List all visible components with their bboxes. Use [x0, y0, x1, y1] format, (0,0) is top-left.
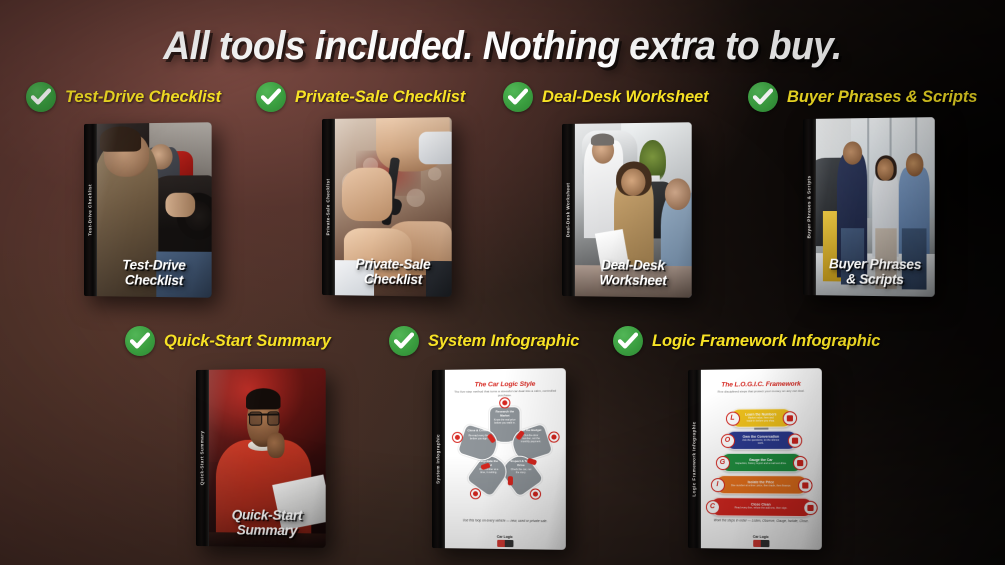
- book-spine-text: Test-Drive Checklist: [87, 184, 92, 236]
- page-title: All tools included. Nothing extra to buy…: [35, 24, 970, 69]
- check-circle-icon: [748, 82, 778, 112]
- checklist-item-quick-start: Quick-Start Summary: [125, 326, 331, 356]
- checklist-item-private-sale: Private-Sale Checklist: [256, 82, 465, 112]
- product-mockup-logic-framework-infographic: Logic Framework Infographic The L.O.G.I.…: [688, 370, 820, 548]
- book-spine: Deal-Desk Worksheet: [562, 124, 575, 296]
- check-circle-icon: [256, 82, 286, 112]
- checklist-label: Deal-Desk Worksheet: [542, 88, 709, 107]
- checklist-item-logic-framework: Logic Framework Infographic: [613, 326, 880, 356]
- checklist-label: Private-Sale Checklist: [295, 88, 465, 107]
- book-spine-text: Quick-Start Summary: [199, 431, 204, 486]
- checklist-label: Buyer Phrases & Scripts: [787, 88, 977, 107]
- checklist-item-test-drive: Test-Drive Checklist: [26, 82, 221, 112]
- cover-title: Deal-Desk Worksheet: [579, 259, 688, 289]
- book-spine: Quick-Start Summary: [196, 370, 209, 546]
- checklist-item-system-infographic: System Infographic: [389, 326, 579, 356]
- book-spine-text: Deal-Desk Worksheet: [565, 183, 570, 238]
- cover-title: Buyer Phrases & Scripts: [820, 258, 931, 288]
- checklist-label: System Infographic: [428, 332, 579, 351]
- book-cover: Private-Sale Checklist: [335, 117, 452, 297]
- promo-graphic: All tools included. Nothing extra to buy…: [0, 0, 1005, 565]
- product-mockup-quick-start-summary: Quick-Start Summary Quick-Start Summary: [196, 370, 324, 546]
- book-spine-text: System Infographic: [435, 434, 440, 484]
- checklist-item-deal-desk: Deal-Desk Worksheet: [503, 82, 709, 112]
- checklist-item-buyer-phrases: Buyer Phrases & Scripts: [748, 82, 977, 112]
- cover-title: Test-Drive Checklist: [101, 259, 208, 289]
- book-cover: Buyer Phrases & Scripts: [816, 117, 935, 297]
- product-mockup-deal-desk-worksheet: Deal-Desk Worksheet Deal-Desk Worksheet: [562, 124, 690, 296]
- book-cover: Deal-Desk Worksheet: [575, 122, 692, 298]
- book-cover: The Car Logic Style The five-step method…: [445, 368, 566, 550]
- book-spine: Test-Drive Checklist: [84, 124, 97, 296]
- checklist-label: Quick-Start Summary: [164, 332, 331, 351]
- book-cover: The L.O.G.I.C. Framework Five discipline…: [701, 368, 822, 550]
- checklist-label: Test-Drive Checklist: [65, 88, 221, 107]
- product-mockup-system-infographic: System Infographic The Car Logic Style T…: [432, 370, 564, 548]
- book-spine: Buyer Phrases & Scripts: [803, 119, 816, 295]
- product-mockup-test-drive-checklist: Test-Drive Checklist Test-Drive Checklis…: [84, 124, 210, 296]
- book-spine-text: Buyer Phrases & Scripts: [806, 176, 811, 239]
- product-mockup-buyer-phrases-scripts: Buyer Phrases & Scripts Buyer Phrases & …: [803, 119, 933, 295]
- check-circle-icon: [125, 326, 155, 356]
- book-spine-text: Logic Framework Infographic: [691, 421, 696, 496]
- book-spine: Logic Framework Infographic: [688, 370, 701, 548]
- cover-title: Quick-Start Summary: [213, 509, 322, 539]
- book-spine: Private-Sale Checklist: [322, 119, 335, 295]
- book-spine-text: Private-Sale Checklist: [325, 179, 330, 236]
- check-circle-icon: [613, 326, 643, 356]
- product-mockup-private-sale-checklist: Private-Sale Checklist: [322, 119, 450, 295]
- book-cover: Test-Drive Checklist: [97, 122, 212, 298]
- check-circle-icon: [26, 82, 56, 112]
- check-circle-icon: [389, 326, 419, 356]
- cover-title: Private-Sale Checklist: [339, 258, 448, 288]
- book-spine: System Infographic: [432, 370, 445, 548]
- check-circle-icon: [503, 82, 533, 112]
- checklist-label: Logic Framework Infographic: [652, 332, 880, 351]
- book-cover: Quick-Start Summary: [209, 368, 326, 548]
